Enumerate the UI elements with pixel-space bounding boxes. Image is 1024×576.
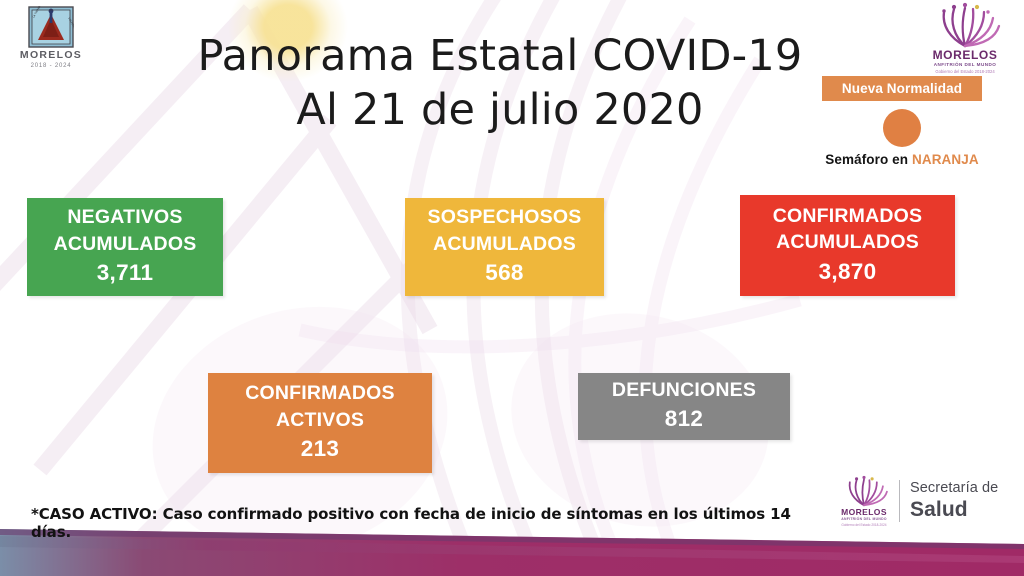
card-label-line2: ACUMULADOS: [433, 231, 576, 258]
salud-flower-mark: MORELOS ANFITRIÓN DEL MUNDO Gobierno del…: [833, 475, 895, 527]
salud-divider: [899, 480, 900, 522]
stat-card-confirmados-acumulados: CONFIRMADOS ACUMULADOS 3,870: [740, 195, 955, 296]
shield-logo-years: 2018 - 2024: [14, 63, 88, 69]
page-title: Panorama Estatal COVID-19 Al 21 de julio…: [180, 30, 820, 138]
title-line-2: Al 21 de julio 2020: [180, 84, 820, 138]
flower-logo-subtitle: Gobierno del Estado 2018-2024: [923, 69, 1007, 74]
salud-mark-subtitle: Gobierno del Estado 2018-2024: [833, 523, 895, 527]
card-value: 213: [301, 433, 339, 466]
card-label-line1: SOSPECHOSOS: [428, 204, 582, 231]
coat-of-arms-icon: LA TIERRA VOLVERÁ: [28, 6, 74, 48]
flower-logo-tagline: ANFITRIÓN DEL MUNDO: [923, 63, 1007, 68]
shield-logo-name: MORELOS: [14, 50, 88, 61]
semaforo-label-prefix: Semáforo en: [825, 152, 912, 167]
salud-line-1: Secretaría de: [910, 481, 998, 496]
stat-card-sospechosos-acumulados: SOSPECHOSOS ACUMULADOS 568: [405, 198, 604, 296]
flower-icon: [839, 475, 889, 507]
card-label-line2: ACUMULADOS: [776, 229, 919, 256]
semaforo-block: Nueva Normalidad Semáforo en NARANJA: [790, 76, 1014, 167]
semaforo-dot-icon: [883, 109, 921, 147]
nueva-normalidad-badge: Nueva Normalidad: [822, 76, 982, 101]
slide-canvas: LA TIERRA VOLVERÁ MORELOS 2018 - 2024: [0, 0, 1024, 576]
salud-mark-name: MORELOS: [833, 508, 895, 517]
card-value: 3,870: [819, 256, 877, 289]
salud-mark-tagline: ANFITRIÓN DEL MUNDO: [833, 518, 895, 521]
morelos-shield-logo: LA TIERRA VOLVERÁ MORELOS 2018 - 2024: [14, 6, 88, 69]
stat-card-confirmados-activos: CONFIRMADOS ACTIVOS 213: [208, 373, 432, 473]
semaforo-level: NARANJA: [912, 152, 979, 167]
morelos-flower-logo: MORELOS ANFITRIÓN DEL MUNDO Gobierno del…: [923, 2, 1007, 74]
card-label-line1: DEFUNCIONES: [612, 377, 756, 404]
salud-line-2: Salud: [910, 499, 998, 521]
title-line-1: Panorama Estatal COVID-19: [197, 31, 802, 81]
card-value: 568: [485, 257, 523, 290]
card-value: 812: [665, 403, 703, 436]
semaforo-label: Semáforo en NARANJA: [790, 152, 1014, 167]
salud-wordmark: Secretaría de Salud: [910, 481, 998, 520]
stat-card-defunciones: DEFUNCIONES 812: [578, 373, 790, 440]
secretaria-de-salud-logo: MORELOS ANFITRIÓN DEL MUNDO Gobierno del…: [833, 472, 1013, 530]
card-label-line1: NEGATIVOS: [67, 204, 182, 231]
card-label-line2: ACUMULADOS: [54, 231, 197, 258]
card-label-line1: CONFIRMADOS: [773, 203, 923, 230]
stat-card-negativos-acumulados: NEGATIVOS ACUMULADOS 3,711: [27, 198, 223, 296]
card-value: 3,711: [97, 257, 154, 290]
card-label-line1: CONFIRMADOS: [245, 380, 395, 407]
flower-icon: [928, 2, 1002, 48]
flower-logo-name: MORELOS: [923, 49, 1007, 61]
card-label-line2: ACTIVOS: [276, 407, 364, 434]
footnote-caso-activo: *CASO ACTIVO: Caso confirmado positivo c…: [31, 505, 821, 541]
